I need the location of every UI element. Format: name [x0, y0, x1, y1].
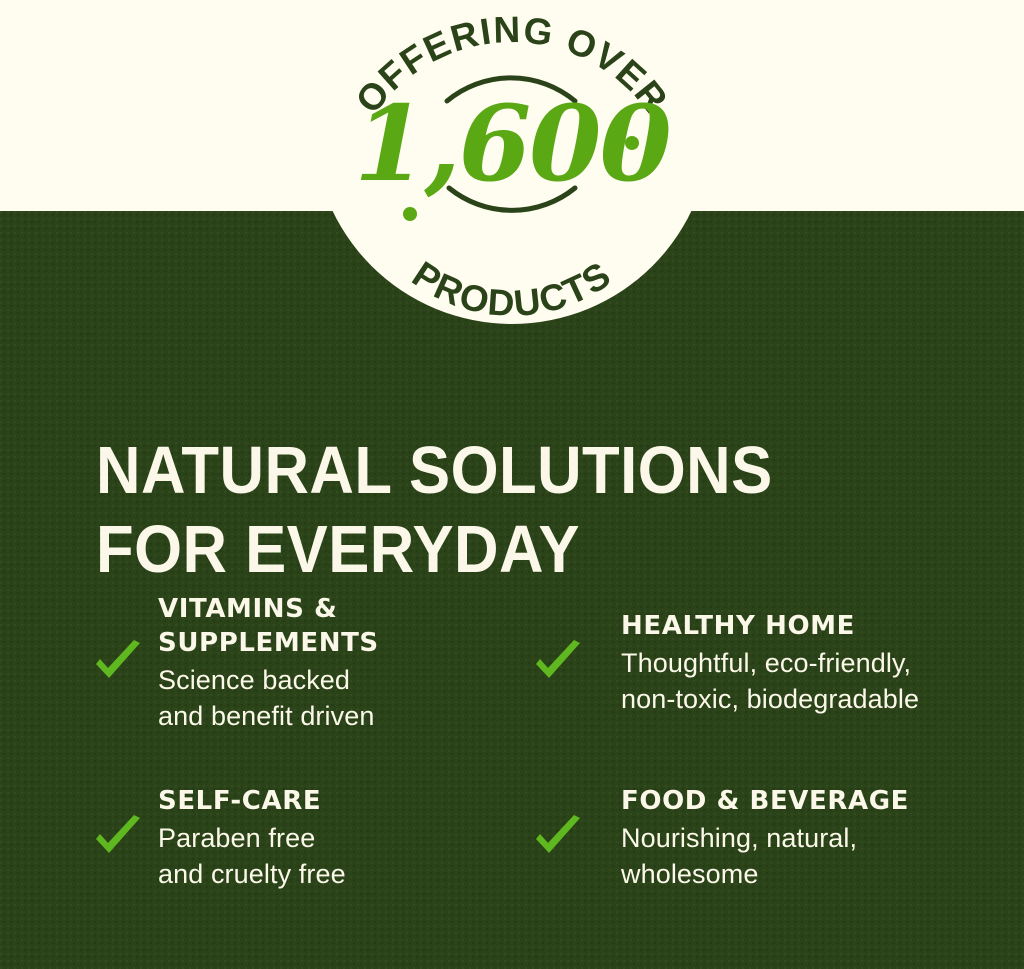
- check-icon: [532, 637, 584, 689]
- feature-description: Paraben free and cruelty free: [158, 820, 346, 892]
- feature-desc-line-1: Thoughtful, eco-friendly,: [621, 645, 919, 681]
- feature-desc-line-1: Paraben free: [158, 820, 346, 856]
- feature-desc-line-1: Science backed: [158, 662, 482, 698]
- feature-title: HEALTHY HOME: [621, 609, 919, 643]
- feature-title: FOOD & BEVERAGE: [621, 784, 909, 818]
- feature-description: Nourishing, natural, wholesome: [621, 820, 909, 892]
- feature-text-block: FOOD & BEVERAGE Nourishing, natural, who…: [621, 784, 909, 892]
- feature-title: SELF-CARE: [158, 784, 346, 818]
- offering-badge: OFFERING OVER PRODUCTS 1,600: [331, 4, 693, 294]
- badge-product-count: 1,600: [354, 82, 671, 205]
- feature-item-healthy-home: HEALTHY HOME Thoughtful, eco-friendly, n…: [512, 592, 1024, 734]
- feature-desc-line-1: Nourishing, natural,: [621, 820, 909, 856]
- feature-desc-line-2: non-toxic, biodegradable: [621, 681, 919, 717]
- feature-description: Science backed and benefit driven: [158, 662, 482, 734]
- feature-text-block: HEALTHY HOME Thoughtful, eco-friendly, n…: [621, 609, 919, 717]
- feature-text-block: VITAMINS & SUPPLEMENTS Science backed an…: [158, 592, 482, 734]
- headline-line-1: NATURAL SOLUTIONS: [96, 431, 906, 510]
- dot-icon-left: [403, 207, 417, 221]
- feature-text-block: SELF-CARE Paraben free and cruelty free: [158, 784, 346, 892]
- check-icon: [92, 812, 144, 864]
- feature-description: Thoughtful, eco-friendly, non-toxic, bio…: [621, 645, 919, 717]
- feature-desc-line-2: and benefit driven: [158, 698, 482, 734]
- feature-item-vitamins-supplements: VITAMINS & SUPPLEMENTS Science backed an…: [0, 592, 512, 734]
- page-title: NATURAL SOLUTIONS FOR EVERYDAY: [96, 431, 906, 589]
- check-icon: [532, 812, 584, 864]
- feature-desc-line-2: and cruelty free: [158, 856, 346, 892]
- feature-item-self-care: SELF-CARE Paraben free and cruelty free: [0, 784, 512, 892]
- feature-list: VITAMINS & SUPPLEMENTS Science backed an…: [0, 592, 1024, 892]
- feature-item-food-beverage: FOOD & BEVERAGE Nourishing, natural, who…: [512, 784, 1024, 892]
- promo-banner: OFFERING OVER PRODUCTS 1,600 NATURAL SOL…: [0, 0, 1024, 969]
- headline-line-2: FOR EVERYDAY: [96, 510, 906, 589]
- feature-title-line-1: VITAMINS &: [158, 594, 337, 624]
- feature-title-line-2: SUPPLEMENTS: [158, 628, 379, 658]
- feature-desc-line-2: wholesome: [621, 856, 909, 892]
- check-icon: [92, 637, 144, 689]
- feature-title: VITAMINS & SUPPLEMENTS: [158, 592, 482, 660]
